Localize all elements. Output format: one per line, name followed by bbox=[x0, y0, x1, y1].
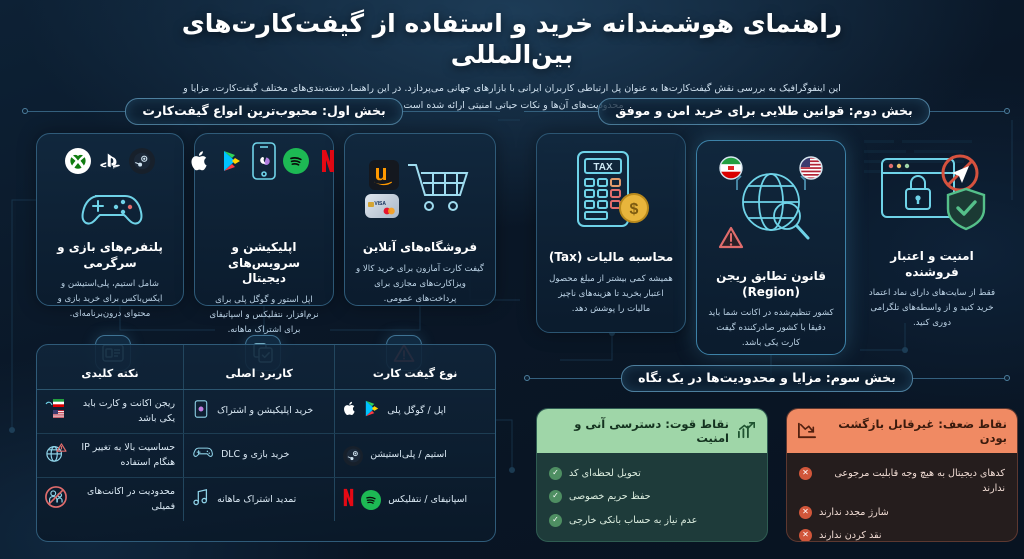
table-row: اپل / گوگل پلی خرید اپلیکیشن و اشتراک ری… bbox=[37, 390, 495, 434]
apple-logo bbox=[343, 400, 357, 423]
close-icon: ✕ bbox=[799, 529, 812, 542]
cell-usage: تمدید اشتراک ماهانه bbox=[184, 478, 335, 522]
card-description: فقط از سایت‌های دارای نماد اعتماد خرید ک… bbox=[865, 286, 999, 331]
cell-type: استیم / پلی‌استیشن bbox=[335, 434, 495, 478]
card-title: امنیت و اعتبار فروشنده bbox=[865, 249, 999, 280]
calculator-coin-icon: TAX $ bbox=[546, 146, 676, 242]
table-header-type: نوع گیفت کارت bbox=[335, 345, 495, 390]
close-icon: ✕ bbox=[799, 467, 812, 480]
card-title: اپلیکیشن و سرویس‌های دیجیتال bbox=[204, 240, 324, 287]
page-title: راهنمای هوشمندانه خرید و استفاده از گیفت… bbox=[120, 8, 904, 71]
table-row: استیم / پلی‌استیشن خرید بازی و DLC حساسی… bbox=[37, 434, 495, 478]
cell-usage: خرید بازی و DLC bbox=[184, 434, 335, 478]
cell-text: خرید بازی و DLC bbox=[221, 448, 289, 463]
cell-note: حساسیت بالا به تغییر IP هنگام استفاده bbox=[37, 434, 184, 478]
cell-note: ریجن اکانت و کارت باید یکی باشد bbox=[37, 390, 184, 434]
table-header-row: نوع گیفت کارت کاربرد اصلی نکته کلیدی bbox=[37, 345, 495, 390]
gamepad-icon bbox=[46, 180, 174, 232]
check-icon: ✓ bbox=[549, 514, 562, 527]
globe-warning-icon bbox=[45, 443, 67, 469]
smartphone-icon bbox=[251, 148, 277, 174]
divider-line bbox=[530, 378, 621, 379]
chart-up-icon bbox=[737, 421, 757, 442]
brand-logo-row bbox=[204, 144, 324, 178]
line-end-dot bbox=[1004, 108, 1010, 114]
section-three-label: بخش سوم: مزایا و محدودیت‌ها در یک نگاه bbox=[621, 365, 913, 392]
card-title: فروشگاه‌های آنلاین bbox=[354, 240, 486, 256]
amazon-logo bbox=[369, 160, 399, 190]
divider-line bbox=[403, 111, 500, 112]
close-icon: ✕ bbox=[799, 506, 812, 519]
line-end-dot bbox=[524, 375, 530, 381]
card-title: قانون تطابق ریجن (Region) bbox=[706, 269, 836, 300]
apple-logo bbox=[187, 148, 213, 174]
list-item: شارژ مجدد ندارند ✕ bbox=[799, 501, 1005, 524]
divider-line bbox=[930, 111, 1004, 112]
rule-card-region[interactable]: قانون تطابق ریجن (Region) کشور تنظیم‌شده… bbox=[696, 140, 846, 355]
strengths-title: نقاط قوت: دسترسی آنی و امنیت bbox=[547, 417, 729, 445]
section-two-label: بخش دوم: قوانین طلایی برای خرید امن و مو… bbox=[598, 98, 929, 125]
weaknesses-header: نقاط ضعف: غیرقابل بازگشت بودن bbox=[787, 409, 1017, 453]
card-description: کشور تنظیم‌شده در اکانت شما باید دقیقا ب… bbox=[706, 306, 836, 351]
brand-logo-row bbox=[46, 144, 174, 178]
flags-icon bbox=[45, 398, 65, 426]
smartphone-icon bbox=[204, 180, 324, 232]
check-icon: ✓ bbox=[549, 490, 562, 503]
cell-text: تمدید اشتراک ماهانه bbox=[217, 493, 296, 508]
xbox-logo bbox=[65, 148, 91, 174]
section-one-label: بخش اول: محبوب‌ترین انواع گیفت‌کارت bbox=[125, 98, 402, 125]
cell-text: ریجن اکانت و کارت باید یکی باشد bbox=[72, 397, 175, 426]
category-card-shops[interactable]: VISA فروشگاه‌های آنلاین گیفت کارت آمازون… bbox=[344, 133, 496, 306]
rule-card-tax[interactable]: TAX $ محاسبه مالیات (Tax) همیشه کمی بیشت… bbox=[536, 133, 686, 333]
shop-icon-row: VISA bbox=[354, 146, 486, 232]
cell-text: محدودیت در اکانت‌های فمیلی bbox=[74, 485, 175, 514]
card-description: اپل استور و گوگل پلی برای نرم‌افزار، نتف… bbox=[204, 293, 324, 338]
music-note-icon bbox=[192, 488, 210, 512]
cell-text: حساسیت بالا به تغییر IP هنگام استفاده bbox=[74, 441, 175, 470]
table-row: اسپانیفای / نتفلیکس تمدید اشتراک ماهانه … bbox=[37, 478, 495, 522]
netflix-logo bbox=[315, 148, 341, 174]
list-item: عدم نیاز به حساب بانکی خارجی ✓ bbox=[549, 509, 755, 532]
card-title: محاسبه مالیات (Tax) bbox=[546, 250, 676, 266]
cell-usage: خرید اپلیکیشن و اشتراک bbox=[184, 390, 335, 434]
cell-note: محدودیت در اکانت‌های فمیلی bbox=[37, 478, 184, 522]
section-three-header: بخش سوم: مزایا و محدودیت‌ها در یک نگاه bbox=[524, 365, 1010, 391]
visa-card-logo: VISA bbox=[365, 194, 399, 218]
steam-logo bbox=[343, 446, 363, 466]
table-header-usage: کاربرد اصلی bbox=[184, 345, 335, 390]
strength-text: عدم نیاز به حساب بانکی خارجی bbox=[569, 513, 697, 528]
card-description: شامل استیم، پلی‌استیشن و ایکس‌باکس برای … bbox=[46, 277, 174, 322]
category-card-gaming[interactable]: پلتفرم‌های بازی و سرگرمی شامل استیم، پلی… bbox=[36, 133, 184, 306]
list-item: نقد کردن ندارند ✕ bbox=[799, 524, 1005, 542]
svg-text:TAX: TAX bbox=[593, 162, 613, 173]
strengths-list: تحویل لحظه‌ای کد ✓ حفظ حریم خصوصی ✓ عدم … bbox=[537, 453, 767, 542]
cell-text: خرید اپلیکیشن و اشتراک bbox=[217, 404, 313, 419]
globe-search-icon bbox=[706, 153, 836, 261]
cell-text: اپل / گوگل پلی bbox=[387, 404, 446, 419]
spotify-logo bbox=[283, 148, 309, 174]
google-play-logo bbox=[364, 400, 380, 423]
section-one-header: بخش اول: محبوب‌ترین انواع گیفت‌کارت bbox=[22, 98, 500, 124]
weaknesses-panel: نقاط ضعف: غیرقابل بازگشت بودن کدهای دیجی… bbox=[786, 408, 1018, 542]
gift-card-comparison-table: نوع گیفت کارت کاربرد اصلی نکته کلیدی اپل… bbox=[36, 344, 496, 542]
weaknesses-title: نقاط ضعف: غیرقابل بازگشت بودن bbox=[825, 417, 1007, 445]
card-description: همیشه کمی بیشتر از مبلغ محصول اعتبار بخر… bbox=[546, 272, 676, 317]
playstation-logo bbox=[97, 148, 123, 174]
category-card-apps[interactable]: اپلیکیشن و سرویس‌های دیجیتال اپل استور و… bbox=[194, 133, 334, 306]
card-title: پلتفرم‌های بازی و سرگرمی bbox=[46, 240, 174, 271]
divider-line bbox=[524, 111, 598, 112]
steam-logo bbox=[129, 148, 155, 174]
svg-text:VISA: VISA bbox=[374, 201, 386, 207]
weakness-text: نقد کردن ندارند bbox=[819, 528, 882, 542]
chart-down-icon bbox=[797, 421, 817, 442]
gamepad-icon bbox=[192, 445, 214, 466]
strength-text: تحویل لحظه‌ای کد bbox=[569, 466, 641, 481]
section-two-header: بخش دوم: قوانین طلایی برای خرید امن و مو… bbox=[524, 98, 1010, 124]
list-item: کدهای دیجیتال به هیچ وجه قابلیت مرجوعی ن… bbox=[799, 462, 1005, 501]
cell-text: اسپانیفای / نتفلیکس bbox=[388, 493, 467, 508]
list-item: حفظ حریم خصوصی ✓ bbox=[549, 485, 755, 508]
divider-line bbox=[913, 378, 1004, 379]
cell-type: اپل / گوگل پلی bbox=[335, 390, 495, 434]
check-icon: ✓ bbox=[549, 467, 562, 480]
weaknesses-list: کدهای دیجیتال به هیچ وجه قابلیت مرجوعی ن… bbox=[787, 453, 1017, 542]
rule-card-security[interactable]: امنیت و اعتبار فروشنده فقط از سایت‌های د… bbox=[856, 133, 1008, 323]
google-play-logo bbox=[219, 148, 245, 174]
card-description: گیفت کارت آمازون برای خرید کالا و ویزاکا… bbox=[354, 262, 486, 307]
spotify-logo bbox=[361, 490, 381, 510]
divider-line bbox=[28, 111, 125, 112]
weakness-text: کدهای دیجیتال به هیچ وجه قابلیت مرجوعی ن… bbox=[819, 466, 1005, 497]
svg-text:$: $ bbox=[630, 201, 639, 218]
strengths-header: نقاط قوت: دسترسی آنی و امنیت bbox=[537, 409, 767, 453]
strengths-panel: نقاط قوت: دسترسی آنی و امنیت تحویل لحظه‌… bbox=[536, 408, 768, 542]
cell-text: استیم / پلی‌استیشن bbox=[370, 448, 447, 463]
weakness-text: شارژ مجدد ندارند bbox=[819, 505, 889, 520]
table-header-note: نکته کلیدی bbox=[37, 345, 184, 390]
line-end-dot bbox=[1004, 375, 1010, 381]
cell-type: اسپانیفای / نتفلیکس bbox=[335, 478, 495, 522]
no-family-icon bbox=[45, 486, 67, 514]
list-item: تحویل لحظه‌ای کد ✓ bbox=[549, 462, 755, 485]
strength-text: حفظ حریم خصوصی bbox=[569, 489, 651, 504]
browser-lock-shield-icon bbox=[865, 145, 999, 241]
line-end-dot bbox=[22, 108, 28, 114]
netflix-logo bbox=[343, 488, 354, 513]
smartphone-icon bbox=[192, 400, 210, 424]
shopping-cart-icon bbox=[405, 159, 475, 219]
